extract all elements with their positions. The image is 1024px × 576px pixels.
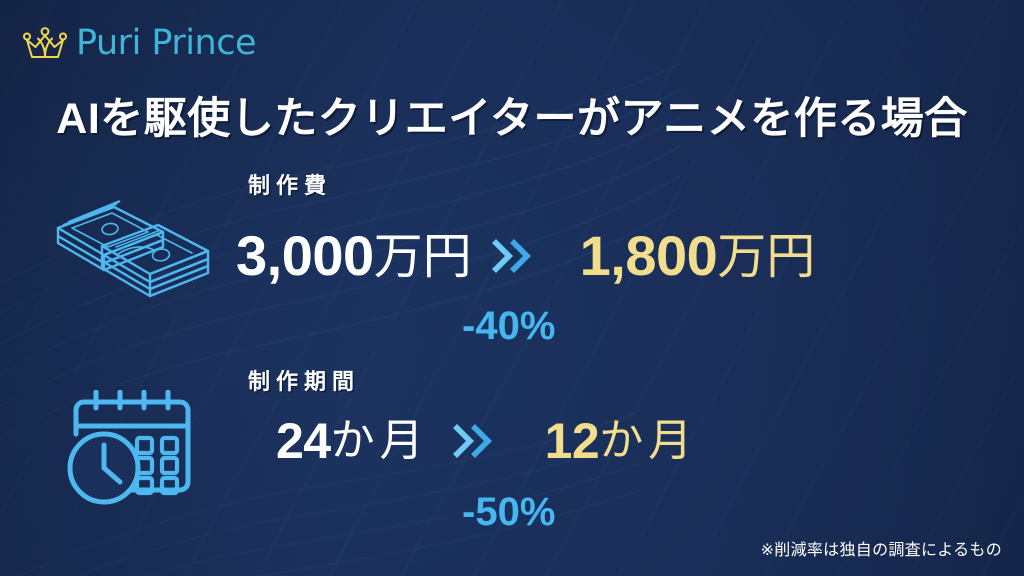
cost-after-unit: 万円 xyxy=(717,232,815,281)
crown-icon xyxy=(22,26,68,64)
duration-value-row: 24 か月 12 か月 xyxy=(276,416,697,466)
brand-logo[interactable]: Puri Prince xyxy=(22,22,256,68)
money-stack-icon xyxy=(42,198,217,303)
page-title: AIを駆使したクリエイターがアニメを作る場合 xyxy=(0,84,1024,146)
cost-delta-badge: -40% xyxy=(462,306,555,346)
metric-block-duration: 制作期間 xyxy=(0,358,1024,548)
footnote: ※削減率は独自の調査によるもの xyxy=(761,536,1002,560)
double-chevron-right-icon xyxy=(490,236,536,276)
double-chevron-right-icon xyxy=(451,421,497,461)
duration-delta-badge: -50% xyxy=(462,492,555,532)
duration-before-unit: か月 xyxy=(331,419,429,463)
brand-name: Puri Prince xyxy=(76,26,256,64)
cost-value-row: 3,000 万円 1,800 万円 xyxy=(236,228,815,284)
duration-after-number: 12 xyxy=(545,416,600,466)
duration-before-number: 24 xyxy=(276,416,331,466)
cost-before-number: 3,000 xyxy=(236,228,374,284)
slide-canvas: Puri Prince AIを駆使したクリエイターがアニメを作る場合 制作費 xyxy=(0,0,1024,576)
cost-before-unit: 万円 xyxy=(374,232,472,281)
section-label-duration: 制作期間 xyxy=(248,364,360,396)
calendar-clock-icon xyxy=(58,390,208,510)
metric-block-cost: 制作費 xyxy=(0,160,1024,360)
cost-after-number: 1,800 xyxy=(580,228,718,284)
duration-after-unit: か月 xyxy=(599,419,697,463)
section-label-cost: 制作費 xyxy=(248,168,332,200)
